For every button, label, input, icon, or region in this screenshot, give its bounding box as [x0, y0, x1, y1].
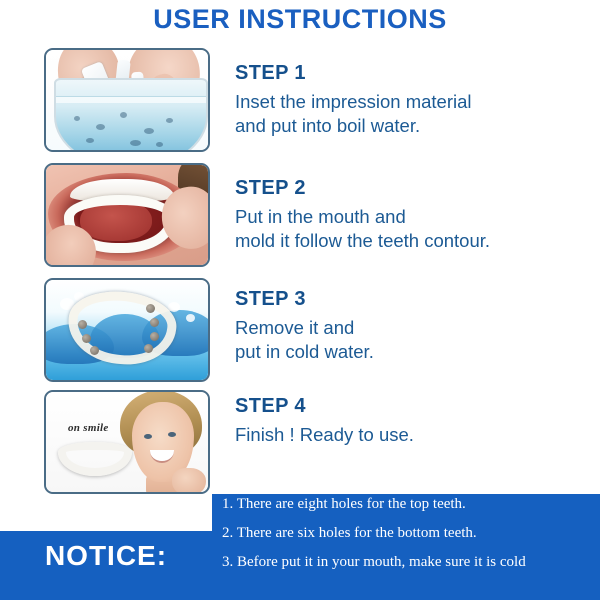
step-2-line-2: mold it follow the teeth contour. [235, 229, 597, 253]
bubble [86, 138, 94, 143]
page-title: USER INSTRUCTIONS [0, 4, 600, 35]
tray-in-cold-water-photo [46, 280, 208, 380]
bubble [74, 116, 80, 121]
water-surface-line [56, 96, 206, 103]
water-foam [186, 314, 195, 322]
step-3-line-1: Remove it and [235, 316, 597, 340]
step-2-text-block: STEP 2 Put in the mouth and mold it foll… [235, 177, 597, 252]
step-1-line-2: and put into boil water. [235, 114, 597, 138]
step-4-line-1: Finish ! Ready to use. [235, 423, 597, 447]
bubble [130, 140, 141, 146]
notice-item-3: 3. Before put it in your mouth, make sur… [222, 555, 597, 570]
notice-label: NOTICE: [0, 540, 212, 572]
bubble [120, 112, 127, 118]
step-1-text-block: STEP 1 Inset the impression material and… [235, 62, 597, 137]
notice-item-2: 2. There are six holes for the bottom te… [222, 526, 597, 541]
step-3-photo-frame [44, 278, 210, 382]
eye-shape [168, 432, 176, 437]
step-3-line-2: put in cold water. [235, 340, 597, 364]
instructions-poster: USER INSTRUCTIONS [0, 0, 600, 600]
veneer-product-shape [58, 442, 132, 476]
glass-bowl-shape [54, 78, 208, 150]
step-1-heading: STEP 1 [235, 62, 597, 85]
notice-list: 1. There are eight holes for the top tee… [222, 497, 597, 584]
veneer-in-mouth-photo [46, 165, 208, 265]
notice-item-1: 1. There are eight holes for the top tee… [222, 497, 597, 512]
tray-hole [90, 346, 99, 355]
bubble [96, 124, 105, 130]
step-2-heading: STEP 2 [235, 177, 597, 200]
bubble [144, 128, 154, 134]
impression-material-in-bowl-photo [46, 50, 208, 150]
step-2-photo-frame [44, 163, 210, 267]
tray-hole [150, 332, 159, 341]
bubble [166, 118, 173, 123]
step-4-photo-frame: on smile [44, 390, 210, 494]
bubble [156, 142, 163, 147]
step-3-heading: STEP 3 [235, 288, 597, 311]
tray-hole [82, 334, 91, 343]
hand-shape [172, 468, 206, 492]
on-smile-caption: on smile [68, 422, 109, 434]
eye-shape [144, 434, 152, 439]
finished-smile-photo: on smile [46, 392, 208, 492]
step-4-heading: STEP 4 [235, 395, 597, 418]
tray-hole [78, 320, 87, 329]
step-1-line-1: Inset the impression material [235, 90, 597, 114]
tray-hole [150, 318, 159, 327]
step-2-line-1: Put in the mouth and [235, 205, 597, 229]
tray-hole [144, 344, 153, 353]
step-4-text-block: STEP 4 Finish ! Ready to use. [235, 395, 597, 447]
step-3-text-block: STEP 3 Remove it and put in cold water. [235, 288, 597, 363]
step-1-photo-frame [44, 48, 210, 152]
tray-hole [146, 304, 155, 313]
